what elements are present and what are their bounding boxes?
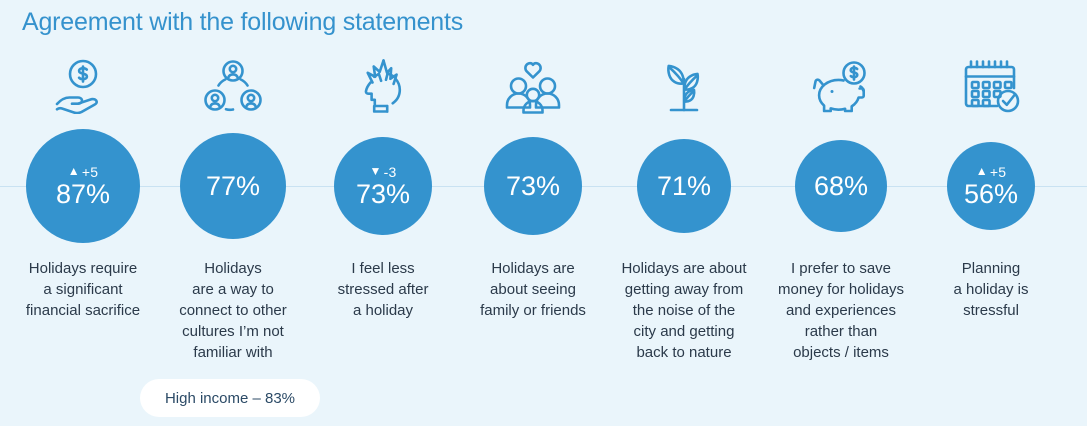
statement-column: 73%Holidays are about seeing family or f… (458, 0, 609, 426)
statement-column: 71%Holidays are about getting away from … (609, 0, 763, 426)
statement-column: ▼-373%I feel less stressed after a holid… (308, 0, 458, 426)
statement-caption: Holidays are about getting away from the… (604, 258, 764, 363)
people-network-icon (201, 54, 265, 118)
delta-value-label: +5 (82, 165, 98, 179)
statement-column: ▲+556%Planning a holiday is stressful (916, 0, 1087, 426)
delta-badge: ▲+5 (68, 165, 98, 179)
high-income-callout-pill: High income – 83% (140, 379, 320, 417)
statement-caption: I prefer to save money for holidays and … (761, 258, 921, 363)
percentage-bubble[interactable]: 73% (484, 137, 582, 235)
percentage-bubble[interactable]: ▲+587% (26, 129, 140, 243)
statement-caption: Planning a holiday is stressful (911, 258, 1071, 321)
percentage-bubble[interactable]: ▼-373% (334, 137, 432, 235)
statement-columns: ▲+587%Holidays require a significant fin… (0, 0, 1087, 426)
delta-down-arrow-icon: ▼ (370, 165, 382, 177)
calendar-check-icon (959, 54, 1023, 118)
percentage-value: 56% (964, 181, 1018, 208)
delta-badge: ▲+5 (976, 165, 1006, 179)
delta-up-arrow-icon: ▲ (976, 165, 988, 177)
percentage-value: 87% (56, 181, 110, 208)
statement-column: 77%Holidays are a way to connect to othe… (158, 0, 308, 426)
percentage-value: 73% (356, 181, 410, 208)
delta-value-label: +5 (990, 165, 1006, 179)
statement-caption: Holidays are about seeing family or frie… (453, 258, 613, 321)
high-income-callout-label: High income – 83% (165, 390, 295, 407)
infographic-board: Agreement with the following statements … (0, 0, 1087, 426)
plant-sprout-icon (652, 54, 716, 118)
delta-badge: ▼-3 (370, 165, 397, 179)
percentage-bubble[interactable]: 68% (795, 140, 887, 232)
percentage-bubble[interactable]: 77% (180, 133, 286, 239)
percentage-value: 71% (657, 173, 711, 200)
percentage-bubble[interactable]: ▲+556% (947, 142, 1035, 230)
stressed-head-icon (351, 54, 415, 118)
statement-column: ▲+587%Holidays require a significant fin… (0, 0, 158, 426)
statement-column: 68%I prefer to save money for holidays a… (763, 0, 917, 426)
family-heart-icon (501, 54, 565, 118)
delta-value-label: -3 (384, 165, 397, 179)
delta-up-arrow-icon: ▲ (68, 165, 80, 177)
hand-holding-coin-icon (51, 54, 115, 118)
percentage-value: 68% (814, 173, 868, 200)
percentage-bubble[interactable]: 71% (637, 139, 731, 233)
statement-caption: Holidays are a way to connect to other c… (153, 258, 313, 363)
statement-caption: Holidays require a significant financial… (3, 258, 163, 321)
percentage-value: 77% (206, 173, 260, 200)
statement-caption: I feel less stressed after a holiday (303, 258, 463, 321)
percentage-value: 73% (506, 173, 560, 200)
piggy-bank-icon (809, 54, 873, 118)
